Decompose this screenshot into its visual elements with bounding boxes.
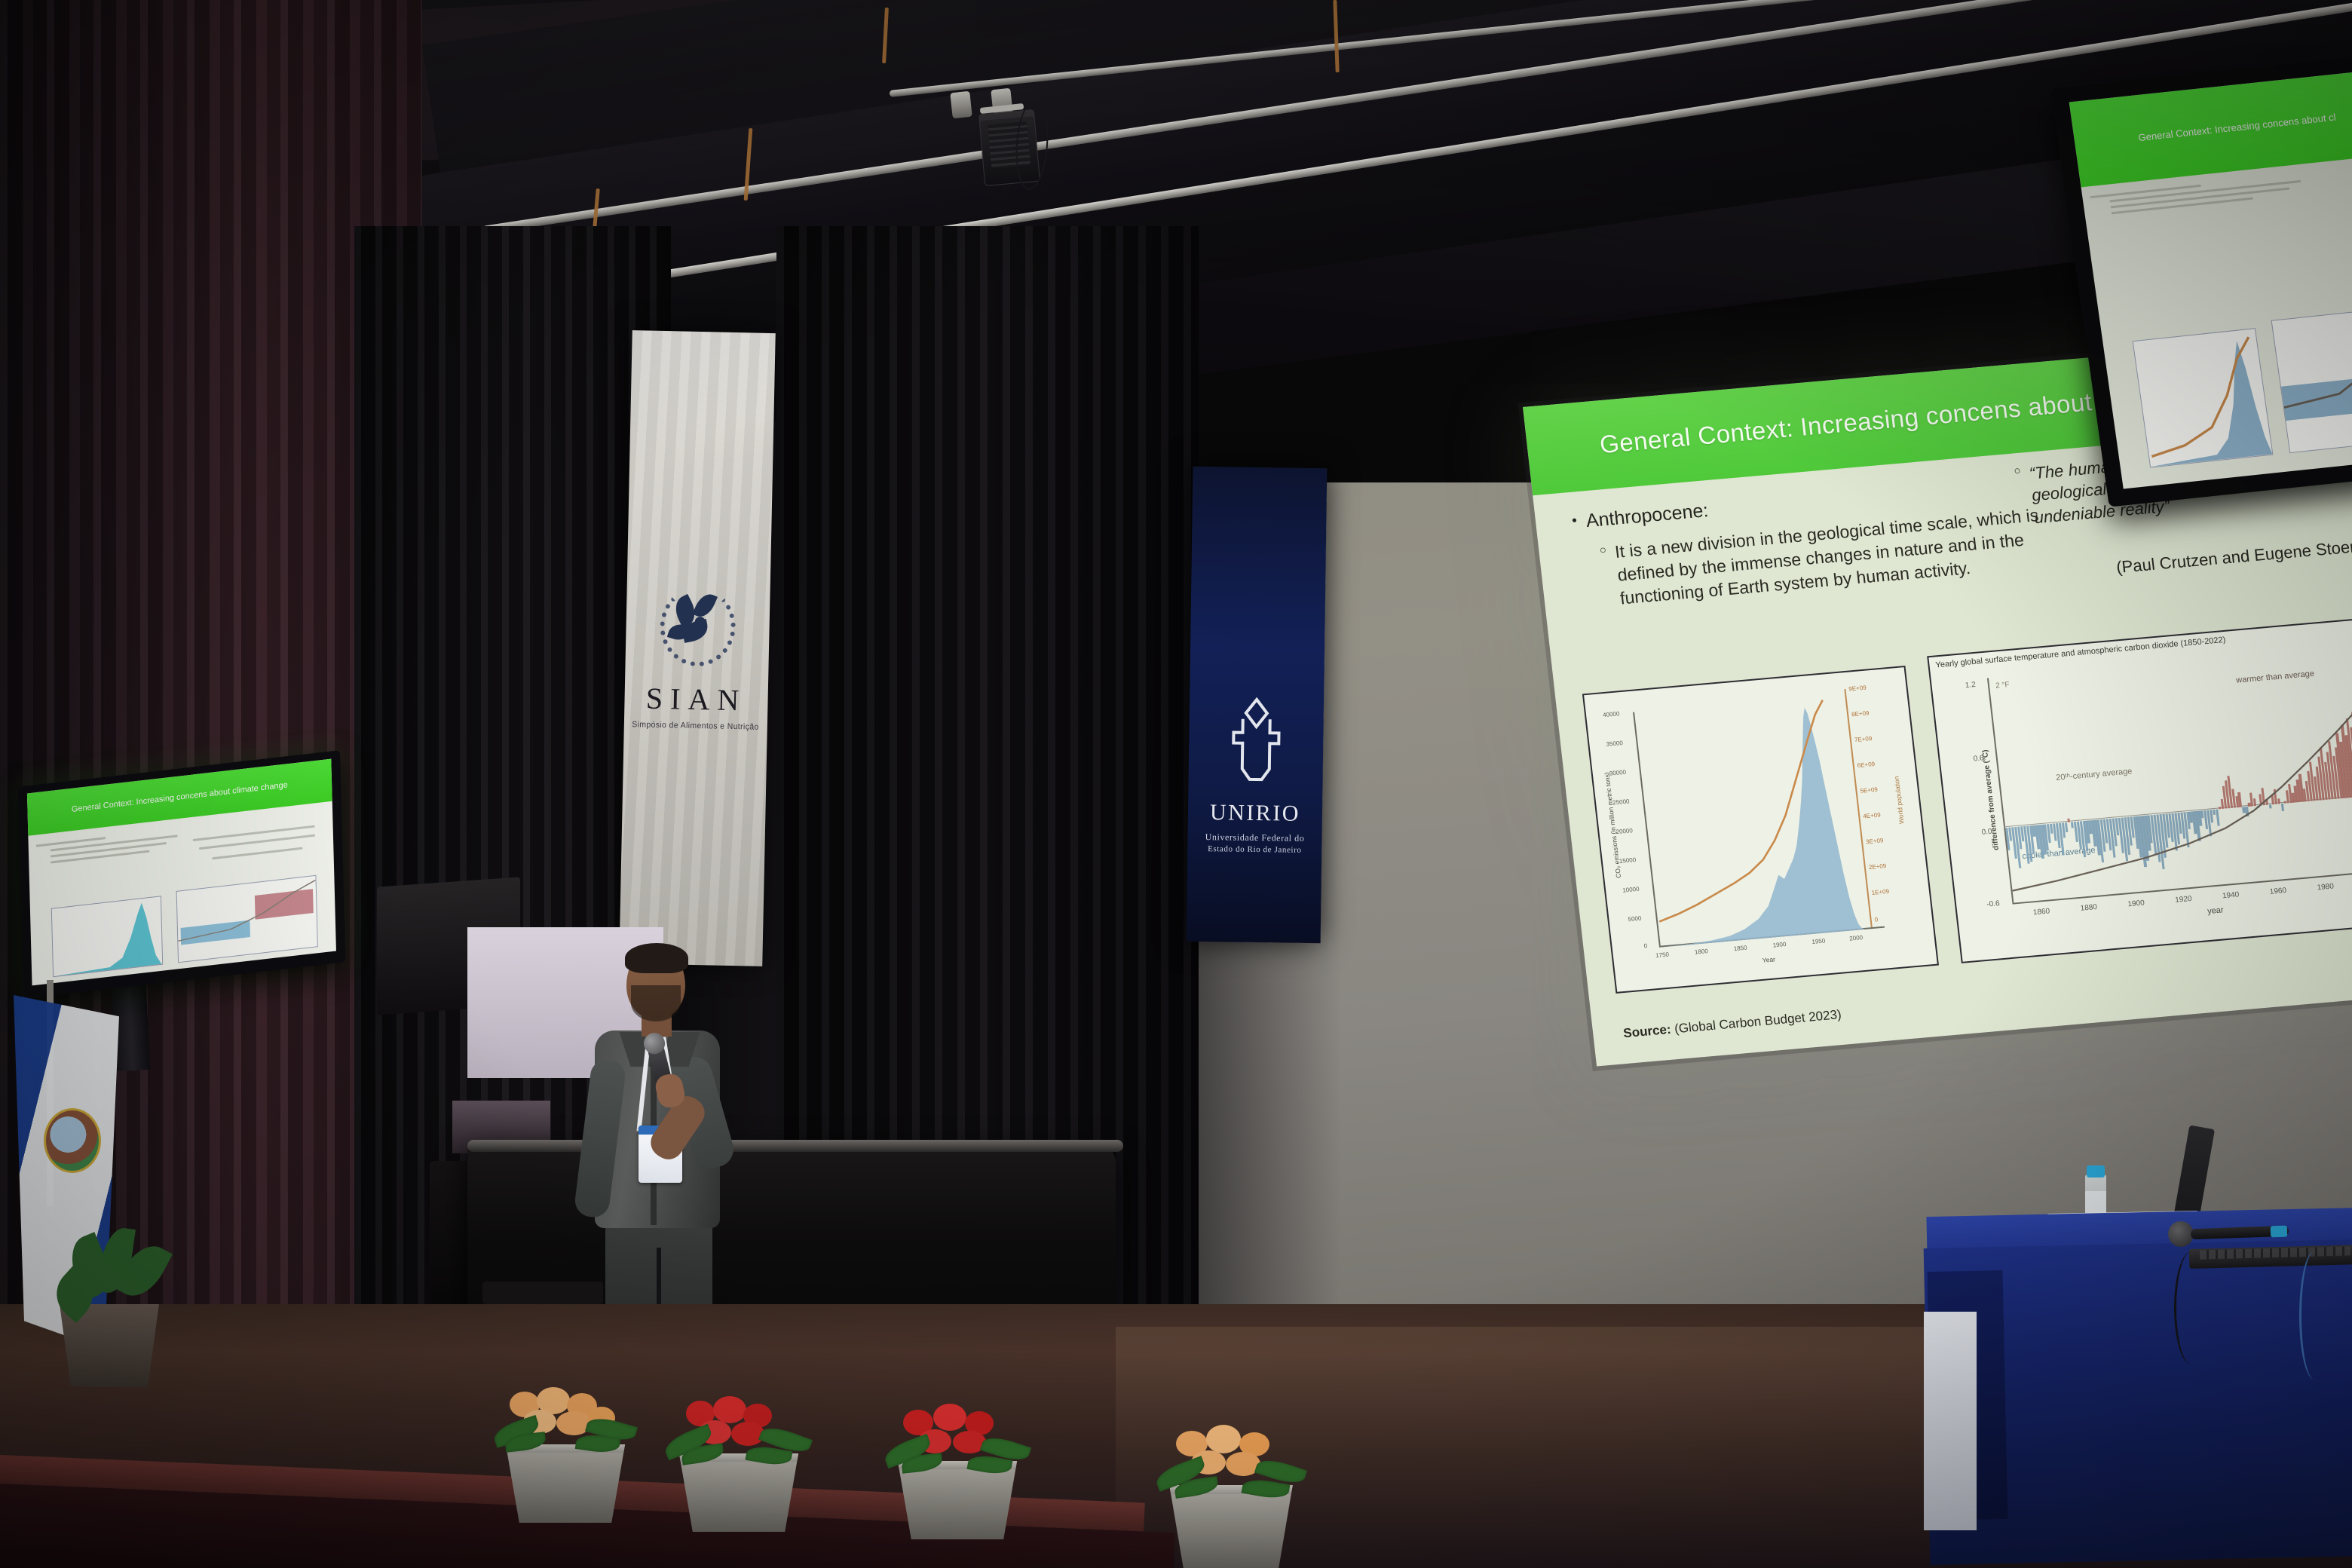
cm-left-figure-right	[176, 875, 317, 963]
chart-co2-emissions: 40000 35000 30000 25000 20000 15000 1000…	[1582, 666, 1939, 994]
flower-arrangement-orange	[498, 1387, 633, 1523]
unirio-wordmark: UNIRIO	[1210, 800, 1300, 827]
planter-pot	[498, 1444, 633, 1523]
pop-ytick: 2E+09	[1868, 862, 1886, 871]
temp-ytick: 1.2	[1965, 681, 1976, 690]
bullet-text: Anthropocene:	[1585, 500, 1709, 532]
flower-arrangement-red-2	[890, 1404, 1025, 1539]
co2-xtick: 1850	[1733, 945, 1747, 952]
flag-crest-icon	[44, 1108, 101, 1173]
piano-lid-edge	[467, 1140, 1123, 1152]
co2-ytick: 35000	[1606, 740, 1623, 748]
sian-wordmark: SIAN	[645, 681, 746, 718]
temp-xlabel: year	[2207, 905, 2225, 916]
co2-ylabel: CO₂ emissions (in million metric tons)	[1603, 772, 1622, 878]
pop-ytick: 6E+09	[1857, 761, 1875, 769]
table-microphone-head	[2168, 1221, 2194, 1247]
unirio-logo-icon	[1219, 693, 1293, 792]
presenter-hair	[625, 943, 688, 973]
temp-xtick: 1940	[2222, 890, 2239, 900]
cm-top-figure-right	[2271, 305, 2352, 453]
co2-xtick: 1950	[1811, 938, 1826, 945]
stage-scene: SIAN Simpósio de Alimentos e Nutrição UN…	[0, 0, 2352, 1568]
temp-xtick: 1860	[2032, 907, 2050, 917]
pop-ytick: 0	[1874, 916, 1878, 923]
co2-ytick: 5000	[1628, 915, 1642, 923]
flower-arrangement-red-1	[671, 1396, 807, 1532]
pop-ytick: 8E+09	[1851, 709, 1870, 718]
sian-logo-icon	[651, 580, 743, 672]
co2-xtick: 1800	[1695, 948, 1709, 955]
power-cable	[2299, 1251, 2329, 1380]
temp-xtick: 1980	[2317, 882, 2334, 892]
pop-ytick: 9E+09	[1848, 684, 1867, 693]
truss-clamp	[950, 91, 972, 119]
confidence-monitor-stage-left: General Context: Increasing concens abou…	[18, 750, 346, 999]
audio-cable	[2174, 1251, 2209, 1364]
table-microphone-band	[2271, 1226, 2288, 1238]
co2-ytick: 20000	[1615, 827, 1633, 835]
pop-ytick: 4E+09	[1863, 812, 1881, 820]
unirio-subtitle-line2: Estado do Rio de Janeiro	[1208, 844, 1302, 855]
planter-pot	[671, 1453, 807, 1532]
temp-xtick: 1900	[2127, 899, 2145, 908]
source-label: Source:	[1622, 1022, 1671, 1040]
co2-ytick: 10000	[1622, 886, 1640, 894]
world-population-line	[1632, 689, 1873, 948]
head-table-side-panel	[1924, 1312, 1977, 1530]
co2-xtick: 1900	[1772, 941, 1787, 948]
pop-ytick: 3E+09	[1866, 837, 1884, 845]
flower-arrangement-orange-2	[1161, 1425, 1301, 1568]
co2-y2label: World population	[1893, 776, 1906, 824]
sian-subtitle: Simpósio de Alimentos e Nutrição	[632, 720, 760, 732]
slide-body: • Anthropocene: ○ It is a new division i…	[1533, 418, 2352, 1066]
quote-attribution: (Paul Crutzen and Eugene Stoermer)	[2115, 534, 2352, 578]
temp-xtick: 1880	[2080, 903, 2097, 913]
cm-left-figure-left	[51, 896, 163, 977]
temp-xtick: 1920	[2175, 895, 2192, 905]
pop-ytick: 7E+09	[1854, 735, 1872, 743]
temp-xtick: 1960	[2269, 887, 2286, 896]
temp-ytick: -0.6	[1986, 899, 2000, 908]
banner-unirio: UNIRIO Universidade Federal do Estado do…	[1187, 467, 1328, 943]
co2-xtick: 2000	[1849, 934, 1864, 942]
cm-top-title: General Context: Increasing concens abou…	[2138, 112, 2337, 143]
banner-sian: SIAN Simpósio de Alimentos e Nutrição	[619, 330, 776, 966]
unirio-subtitle-line1: Universidade Federal do	[1205, 831, 1305, 844]
cm-top-figure-left	[2132, 328, 2273, 467]
bottle-cap	[2087, 1165, 2105, 1178]
co2-xtick: 1750	[1655, 951, 1670, 959]
co2-ytick: 15000	[1619, 856, 1636, 865]
atmospheric-co2-curve	[1989, 642, 2352, 902]
source-value: (Global Carbon Budget 2023)	[1674, 1007, 1842, 1036]
co2-ytick: 40000	[1603, 710, 1620, 718]
pop-ytick: 1E+09	[1871, 888, 1889, 896]
chart-global-temperature: Yearly global surface temperature and at…	[1927, 613, 2352, 963]
co2-xlabel: Year	[1762, 955, 1775, 963]
presenter-beard	[631, 985, 681, 1021]
co2-ytick: 0	[1643, 942, 1647, 949]
co2-ytick: 30000	[1609, 769, 1626, 777]
co2-ytick: 25000	[1612, 798, 1630, 807]
sub-bullet-marker-icon: ○	[1599, 541, 1613, 611]
slide-source: Source: (Global Carbon Budget 2023)	[1622, 1007, 1842, 1041]
bullet-marker-icon: •	[1571, 511, 1579, 533]
pop-ytick: 5E+09	[1860, 786, 1878, 795]
